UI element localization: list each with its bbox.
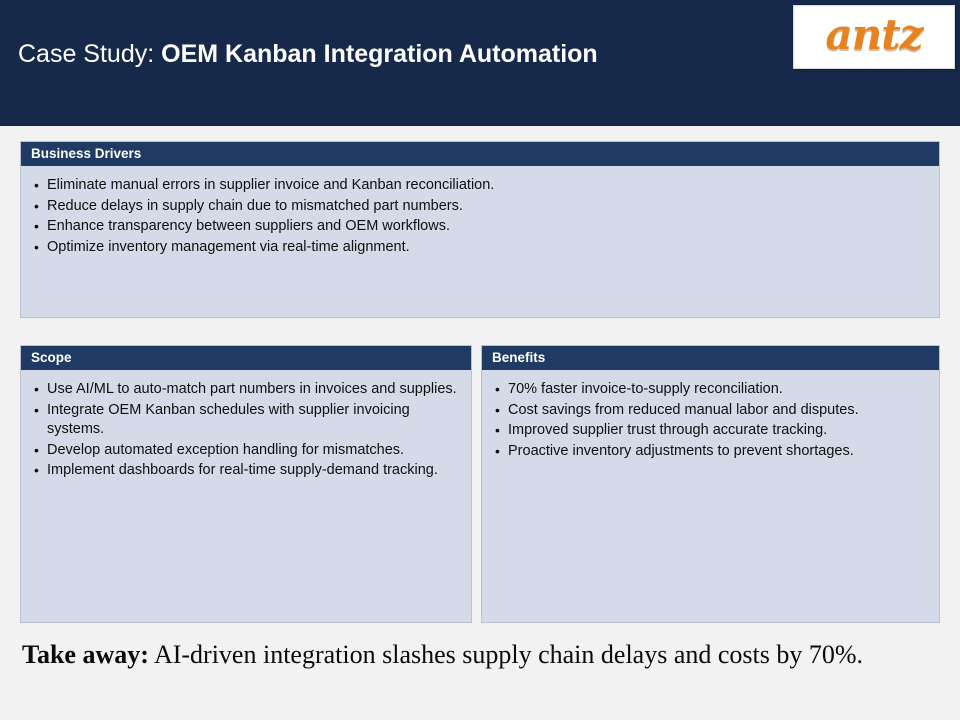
list-item: Develop automated exception handling for… (31, 441, 461, 461)
page-title-prefix: Case Study: (18, 40, 154, 68)
page-title: Case Study: OEM Kanban Integration Autom… (18, 40, 598, 69)
benefits-list: 70% faster invoice-to-supply reconciliat… (492, 380, 929, 461)
logo: antz (793, 5, 955, 69)
business-drivers-title: Business Drivers (21, 142, 939, 166)
benefits-title: Benefits (482, 346, 939, 370)
list-item: Optimize inventory management via real-t… (31, 238, 929, 258)
list-item: Eliminate manual errors in supplier invo… (31, 176, 929, 196)
logo-wordmark: antz (794, 6, 954, 68)
business-drivers-card: Business Drivers Eliminate manual errors… (20, 141, 940, 318)
list-item: Use AI/ML to auto-match part numbers in … (31, 380, 461, 400)
takeaway: Take away: AI-driven integration slashes… (22, 638, 922, 671)
list-item: Improved supplier trust through accurate… (492, 421, 929, 441)
list-item: Proactive inventory adjustments to preve… (492, 442, 929, 462)
list-item: 70% faster invoice-to-supply reconciliat… (492, 380, 929, 400)
scope-title: Scope (21, 346, 471, 370)
list-item: Cost savings from reduced manual labor a… (492, 401, 929, 421)
takeaway-text: AI-driven integration slashes supply cha… (149, 640, 863, 669)
takeaway-label: Take away: (22, 640, 149, 669)
scope-body: Use AI/ML to auto-match part numbers in … (21, 370, 471, 490)
list-item: Implement dashboards for real-time suppl… (31, 461, 461, 481)
page-title-main: OEM Kanban Integration Automation (161, 40, 598, 68)
slide: Case Study: OEM Kanban Integration Autom… (0, 0, 960, 720)
list-item: Enhance transparency between suppliers a… (31, 217, 929, 237)
scope-list: Use AI/ML to auto-match part numbers in … (31, 380, 461, 481)
benefits-body: 70% faster invoice-to-supply reconciliat… (482, 370, 939, 470)
list-item: Integrate OEM Kanban schedules with supp… (31, 401, 461, 440)
business-drivers-list: Eliminate manual errors in supplier invo… (31, 176, 929, 257)
list-item: Reduce delays in supply chain due to mis… (31, 197, 929, 217)
business-drivers-body: Eliminate manual errors in supplier invo… (21, 166, 939, 266)
benefits-card: Benefits 70% faster invoice-to-supply re… (481, 345, 940, 623)
scope-card: Scope Use AI/ML to auto-match part numbe… (20, 345, 472, 623)
